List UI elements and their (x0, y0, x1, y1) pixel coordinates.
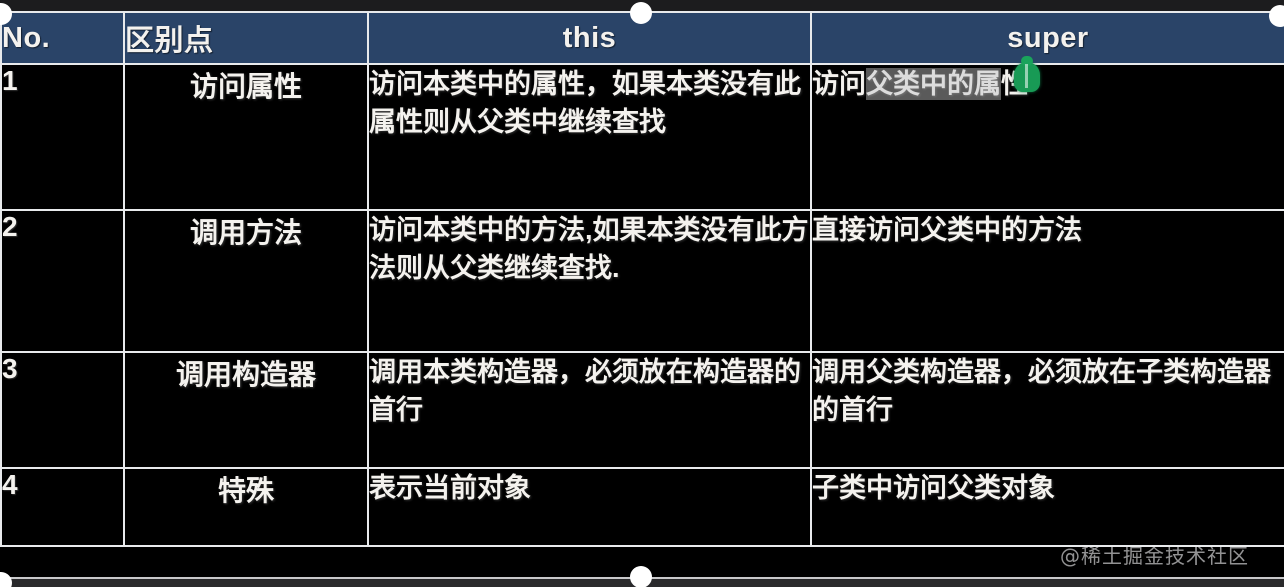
cell-difference-point: 特殊 (124, 468, 368, 546)
watermark-label: @稀土掘金技术社区 (1060, 540, 1249, 569)
super-text-prefix: 访问 (812, 69, 866, 99)
cell-super-description: 直接访问父类中的方法 (811, 210, 1284, 352)
cell-row-number: 4 (1, 468, 124, 546)
column-header-super: super (811, 12, 1284, 64)
selection-handle-bottom-center[interactable] (630, 566, 652, 587)
selection-handle-top-center[interactable] (630, 2, 652, 24)
column-header-point: 区别点 (124, 12, 368, 64)
cell-this-description: 访问本类中的属性，如果本类没有此属性则从父类中继续查找 (368, 64, 811, 210)
selection-handle-bottom-left[interactable] (0, 572, 12, 587)
table-row: 2 调用方法 访问本类中的方法,如果本类没有此方法则从父类继续查找. 直接访问父… (1, 210, 1284, 352)
cell-row-number: 3 (1, 352, 124, 468)
column-header-this: this (368, 12, 811, 64)
cell-super-description[interactable]: 访问父类中的属性 (811, 64, 1284, 210)
table-body: 1 访问属性 访问本类中的属性，如果本类没有此属性则从父类中继续查找 访问父类中… (1, 64, 1284, 546)
cell-this-description: 调用本类构造器，必须放在构造器的首行 (368, 352, 811, 468)
screenshot-root: No. 区别点 this super 1 访问属性 访问本类中的属性，如果本类没… (0, 0, 1284, 587)
cell-row-number: 1 (1, 64, 124, 210)
cell-difference-point: 调用构造器 (124, 352, 368, 468)
table-row: 4 特殊 表示当前对象 子类中访问父类对象 (1, 468, 1284, 546)
table-row: 1 访问属性 访问本类中的属性，如果本类没有此属性则从父类中继续查找 访问父类中… (1, 64, 1284, 210)
selected-text-run[interactable]: 父类中的属 (866, 68, 1001, 100)
cell-this-description: 表示当前对象 (368, 468, 811, 546)
cell-difference-point: 调用方法 (124, 210, 368, 352)
cell-super-description: 子类中访问父类对象 (811, 468, 1284, 546)
cell-this-description: 访问本类中的方法,如果本类没有此方法则从父类继续查找. (368, 210, 811, 352)
selection-handle-top-right[interactable] (1269, 5, 1284, 27)
column-header-no: No. (1, 12, 124, 64)
table-row: 3 调用构造器 调用本类构造器，必须放在构造器的首行 调用父类构造器，必须放在子… (1, 352, 1284, 468)
text-cursor-handle-icon[interactable] (1014, 62, 1040, 92)
cell-row-number: 2 (1, 210, 124, 352)
cell-super-description: 调用父类构造器，必须放在子类构造器的首行 (811, 352, 1284, 468)
this-vs-super-comparison-table: No. 区别点 this super 1 访问属性 访问本类中的属性，如果本类没… (0, 11, 1284, 547)
cell-difference-point: 访问属性 (124, 64, 368, 210)
